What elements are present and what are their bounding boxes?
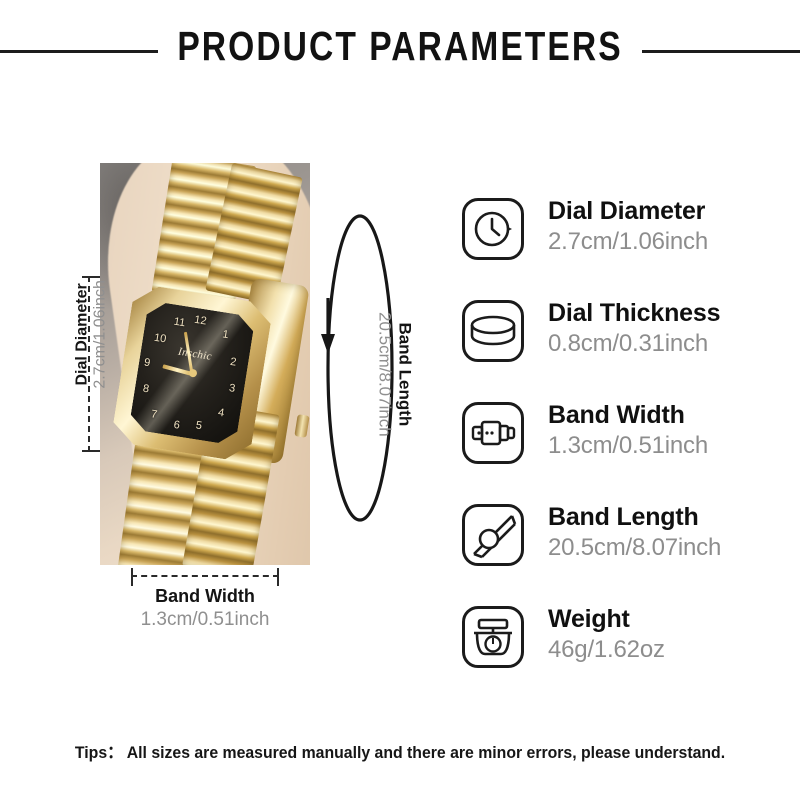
spec-list: Dial Diameter 2.7cm/1.06inch Dial Thickn… bbox=[462, 198, 762, 708]
spec-text-dial-diameter: Dial Diameter 2.7cm/1.06inch bbox=[548, 196, 708, 256]
dial-diameter-callout-value: 2.7cm/1.06inch bbox=[92, 246, 110, 422]
dial-diameter-measure-line: Dial Diameter 2.7cm/1.06inch bbox=[88, 276, 92, 452]
measure-cap-bottom bbox=[82, 450, 100, 452]
clock-icon bbox=[462, 198, 524, 260]
band-width-callout-value: 1.3cm/0.51inch bbox=[80, 608, 330, 633]
spec-label: Band Width bbox=[548, 400, 708, 431]
band-length-icon bbox=[462, 504, 524, 566]
spec-label: Band Length bbox=[548, 502, 721, 533]
band-length-callout-value: 20.5cm/8.07inch bbox=[374, 224, 394, 524]
band-width-measure-line bbox=[131, 575, 279, 579]
spec-row-dial-diameter: Dial Diameter 2.7cm/1.06inch bbox=[462, 198, 762, 300]
watch-case: Inschic 12 1 2 3 4 5 6 7 8 9 10 11 bbox=[110, 283, 273, 463]
disc-thickness-icon bbox=[462, 300, 524, 362]
measure-cap-left bbox=[131, 568, 133, 586]
spec-row-band-length: Band Length 20.5cm/8.07inch bbox=[462, 504, 762, 606]
spec-label: Dial Thickness bbox=[548, 298, 720, 329]
spec-text-band-length: Band Length 20.5cm/8.07inch bbox=[548, 502, 721, 562]
spec-value: 0.8cm/0.31inch bbox=[548, 329, 720, 358]
spec-text-band-width: Band Width 1.3cm/0.51inch bbox=[548, 400, 708, 460]
band-length-callout-text: Band Length 20.5cm/8.07inch bbox=[374, 224, 415, 524]
dial-diameter-callout-label: Dial Diameter bbox=[74, 246, 92, 422]
spec-text-weight: Weight 46g/1.62oz bbox=[548, 604, 665, 664]
product-photo: Inschic 12 1 2 3 4 5 6 7 8 9 10 11 bbox=[100, 163, 310, 565]
page-title: PRODUCT PARAMETERS bbox=[72, 23, 728, 70]
band-length-callout-label: Band Length bbox=[394, 224, 414, 524]
spec-row-dial-thickness: Dial Thickness 0.8cm/0.31inch bbox=[462, 300, 762, 402]
dial-numeral-12: 12 bbox=[193, 314, 207, 328]
footer-tips: Tips： All sizes are measured manually an… bbox=[28, 738, 772, 763]
band-width-callout-label: Band Width bbox=[80, 585, 330, 608]
watch-dial: Inschic 12 1 2 3 4 5 6 7 8 9 10 11 bbox=[128, 300, 255, 445]
spec-row-weight: Weight 46g/1.62oz bbox=[462, 606, 762, 708]
band-width-icon bbox=[462, 402, 524, 464]
measure-cap-right bbox=[277, 568, 279, 586]
dial-numeral-11: 11 bbox=[173, 316, 186, 330]
spec-value: 2.7cm/1.06inch bbox=[548, 227, 708, 256]
spec-label: Dial Diameter bbox=[548, 196, 708, 227]
spec-label: Weight bbox=[548, 604, 665, 635]
spec-value: 46g/1.62oz bbox=[548, 635, 665, 664]
weight-scale-icon bbox=[462, 606, 524, 668]
spec-row-band-width: Band Width 1.3cm/0.51inch bbox=[462, 402, 762, 504]
spec-text-dial-thickness: Dial Thickness 0.8cm/0.31inch bbox=[548, 298, 720, 358]
page-header: PRODUCT PARAMETERS bbox=[0, 0, 800, 100]
spec-value: 1.3cm/0.51inch bbox=[548, 431, 708, 460]
dial-numeral-10: 10 bbox=[153, 332, 167, 346]
header-rule-right bbox=[642, 50, 800, 53]
band-length-callout: Band Length 20.5cm/8.07inch bbox=[318, 208, 396, 528]
band-width-callout: Band Width 1.3cm/0.51inch bbox=[80, 585, 330, 633]
dial-diameter-callout: Dial Diameter 2.7cm/1.06inch bbox=[74, 246, 111, 422]
spec-value: 20.5cm/8.07inch bbox=[548, 533, 721, 562]
